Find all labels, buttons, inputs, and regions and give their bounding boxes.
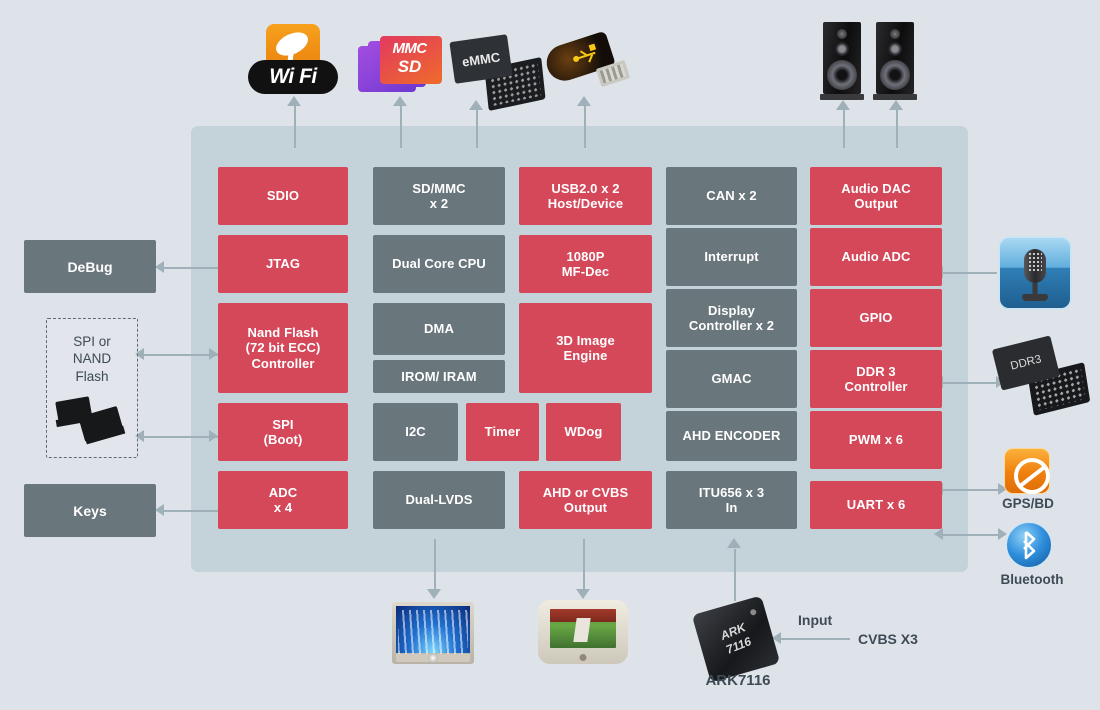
- block-i2c[interactable]: I2C: [373, 403, 458, 461]
- block-audio-adc[interactable]: Audio ADC: [810, 228, 942, 286]
- block-uart-x6[interactable]: UART x 6: [810, 481, 942, 529]
- lcd-bezel: [392, 602, 474, 664]
- soc-column-5: Audio DAC Output Audio ADC GPIO DDR 3 Co…: [810, 167, 942, 539]
- connector-keys-adc: [163, 510, 218, 512]
- connector-wifi-sdio: [294, 100, 296, 148]
- bluetooth-label: Bluetooth: [978, 572, 1086, 587]
- peripheral-flash-group: SPI or NAND Flash: [46, 318, 138, 458]
- speaker-right-woofer: [880, 60, 910, 90]
- soc-column-4: CAN x 2 Interrupt Display Controller x 2…: [666, 167, 797, 539]
- microphone-head: [1024, 249, 1046, 283]
- block-can-x2[interactable]: CAN x 2: [666, 167, 797, 225]
- speaker-right: [876, 22, 914, 100]
- sd-card-front: MMC SD: [380, 36, 442, 84]
- arrow-down-headrest: [576, 589, 590, 599]
- block-interrupt[interactable]: Interrupt: [666, 228, 797, 286]
- speaker-right-midrange: [888, 42, 902, 56]
- arrow-left-keys: [155, 504, 164, 516]
- speaker-left-tweeter: [837, 29, 847, 39]
- connector-flash-spi: [143, 436, 218, 438]
- microphone-tile: [998, 236, 1072, 310]
- connector-itu656-ark: [734, 549, 736, 601]
- sd-label: SD: [380, 57, 439, 77]
- block-3d-image-engine[interactable]: 3D Image Engine: [519, 303, 652, 393]
- block-dual-lvds[interactable]: Dual-LVDS: [373, 471, 505, 529]
- speaker-right-base: [873, 94, 917, 100]
- block-dual-core-cpu[interactable]: Dual Core CPU: [373, 235, 505, 293]
- emmc-label: eMMC: [449, 34, 512, 84]
- arrow-left-debug: [155, 261, 164, 273]
- peripheral-debug[interactable]: DeBug: [24, 240, 156, 293]
- connector-cvbs-input: [780, 638, 850, 640]
- connector-sdmmc: [400, 100, 402, 148]
- block-ahd-encoder[interactable]: AHD ENCODER: [666, 411, 797, 461]
- arrow-right-nand: [209, 348, 218, 360]
- speaker-left-base: [820, 94, 864, 100]
- lcd-monitor-icon: [392, 602, 474, 664]
- block-audio-dac-output[interactable]: Audio DAC Output: [810, 167, 942, 225]
- connector-mic-audioadc: [942, 272, 997, 274]
- connector-speaker-left: [843, 104, 845, 148]
- soc-column-2: SD/MMC x 2 Dual Core CPU DMA IROM/ IRAM …: [373, 167, 505, 539]
- flash-chip-icon: [57, 399, 133, 449]
- arrow-up-itu656: [727, 538, 741, 548]
- soc-column-1: SDIO JTAG Nand Flash (72 bit ECC) Contro…: [218, 167, 348, 539]
- wifi-icon: Wi Fi: [248, 24, 340, 96]
- headrest-indicator: [580, 654, 587, 661]
- microphone-base: [1022, 294, 1048, 301]
- emmc-chip-icon: eMMC: [452, 38, 548, 104]
- soc-block-grid: SDIO JTAG Nand Flash (72 bit ECC) Contro…: [218, 167, 942, 539]
- connector-lvds-lcd: [434, 539, 436, 591]
- block-itu656-x3-in[interactable]: ITU656 x 3 In: [666, 471, 797, 529]
- block-pwm-x6[interactable]: PWM x 6: [810, 411, 942, 469]
- block-jtag[interactable]: JTAG: [218, 235, 348, 293]
- block-ddr3-controller[interactable]: DDR 3 Controller: [810, 350, 942, 408]
- arrow-up-sdmmc: [393, 96, 407, 106]
- block-gpio[interactable]: GPIO: [810, 289, 942, 347]
- block-irom-iram[interactable]: IROM/ IRAM: [373, 360, 505, 393]
- sd-mmc-card-icon: MMC SD: [358, 36, 448, 96]
- block-display-controller-x2[interactable]: Display Controller x 2: [666, 289, 797, 347]
- speaker-left-midrange: [835, 42, 849, 56]
- ark-chip-marking: ARK 7116: [718, 620, 753, 658]
- input-label: Input: [798, 612, 832, 628]
- bluetooth-icon: [1006, 522, 1052, 568]
- block-sd-mmc-x2[interactable]: SD/MMC x 2: [373, 167, 505, 225]
- bluetooth-glyph: [1019, 530, 1039, 560]
- connector-usb: [584, 100, 586, 148]
- arrow-right-spi: [209, 430, 218, 442]
- ddr3-memory-icon: DDR3: [996, 342, 1092, 410]
- lcd-power-button: [428, 653, 438, 663]
- connector-ddr3-controller: [942, 382, 1002, 384]
- block-ahd-cvbs-output[interactable]: AHD or CVBS Output: [519, 471, 652, 529]
- headrest-screen: [550, 609, 616, 648]
- gps-tile: [1004, 448, 1050, 494]
- block-nand-flash-controller[interactable]: Nand Flash (72 bit ECC) Controller: [218, 303, 348, 393]
- speaker-right-tweeter: [890, 29, 900, 39]
- mmc-label: MMC: [380, 40, 439, 57]
- connector-debug-jtag: [163, 267, 218, 269]
- headrest-monitor-icon: [538, 600, 628, 664]
- headrest-shell: [538, 600, 628, 664]
- ark7116-caption: ARK7116: [686, 672, 790, 689]
- connector-emmc: [476, 104, 478, 148]
- gps-label: GPS/BD: [978, 496, 1078, 511]
- connector-cvbs-headrest: [583, 539, 585, 591]
- block-usb20-x2[interactable]: USB2.0 x 2 Host/Device: [519, 167, 652, 225]
- peripheral-keys[interactable]: Keys: [24, 484, 156, 537]
- peripheral-flash-label: SPI or NAND Flash: [47, 333, 137, 385]
- usb-flash-drive-icon: [546, 34, 630, 100]
- soc-column-3: USB2.0 x 2 Host/Device 1080P MF-Dec 3D I…: [519, 167, 652, 539]
- connector-bluetooth-uart: [942, 534, 1004, 536]
- ark7116-chip-icon: ARK 7116: [700, 604, 772, 674]
- ark-chip-body: ARK 7116: [692, 595, 781, 682]
- cvbs-label: CVBS X3: [858, 631, 918, 647]
- block-gmac[interactable]: GMAC: [666, 350, 797, 408]
- connector-flash-nand: [143, 354, 218, 356]
- arrow-down-lcd: [427, 589, 441, 599]
- block-spi-boot[interactable]: SPI (Boot): [218, 403, 348, 461]
- microphone-icon: [998, 236, 1072, 310]
- ark-chip-pin1-dot: [750, 608, 757, 615]
- speakers-icon: [823, 22, 919, 102]
- gps-icon: [1004, 448, 1050, 494]
- block-1080p-mf-dec[interactable]: 1080P MF-Dec: [519, 235, 652, 293]
- wifi-label: Wi Fi: [248, 60, 338, 94]
- diagram-canvas: SDIO JTAG Nand Flash (72 bit ECC) Contro…: [0, 0, 1100, 710]
- speaker-left-woofer: [827, 60, 857, 90]
- connector-speaker-right: [896, 104, 898, 148]
- block-dma[interactable]: DMA: [373, 303, 505, 355]
- speaker-left: [823, 22, 861, 100]
- arrow-up-sdio: [287, 96, 301, 106]
- bluetooth-tile: [1006, 522, 1052, 568]
- block-adc-x4[interactable]: ADC x 4: [218, 471, 348, 529]
- block-sdio[interactable]: SDIO: [218, 167, 348, 225]
- lcd-screen: [396, 606, 470, 653]
- connector-gps-uart: [942, 489, 1004, 491]
